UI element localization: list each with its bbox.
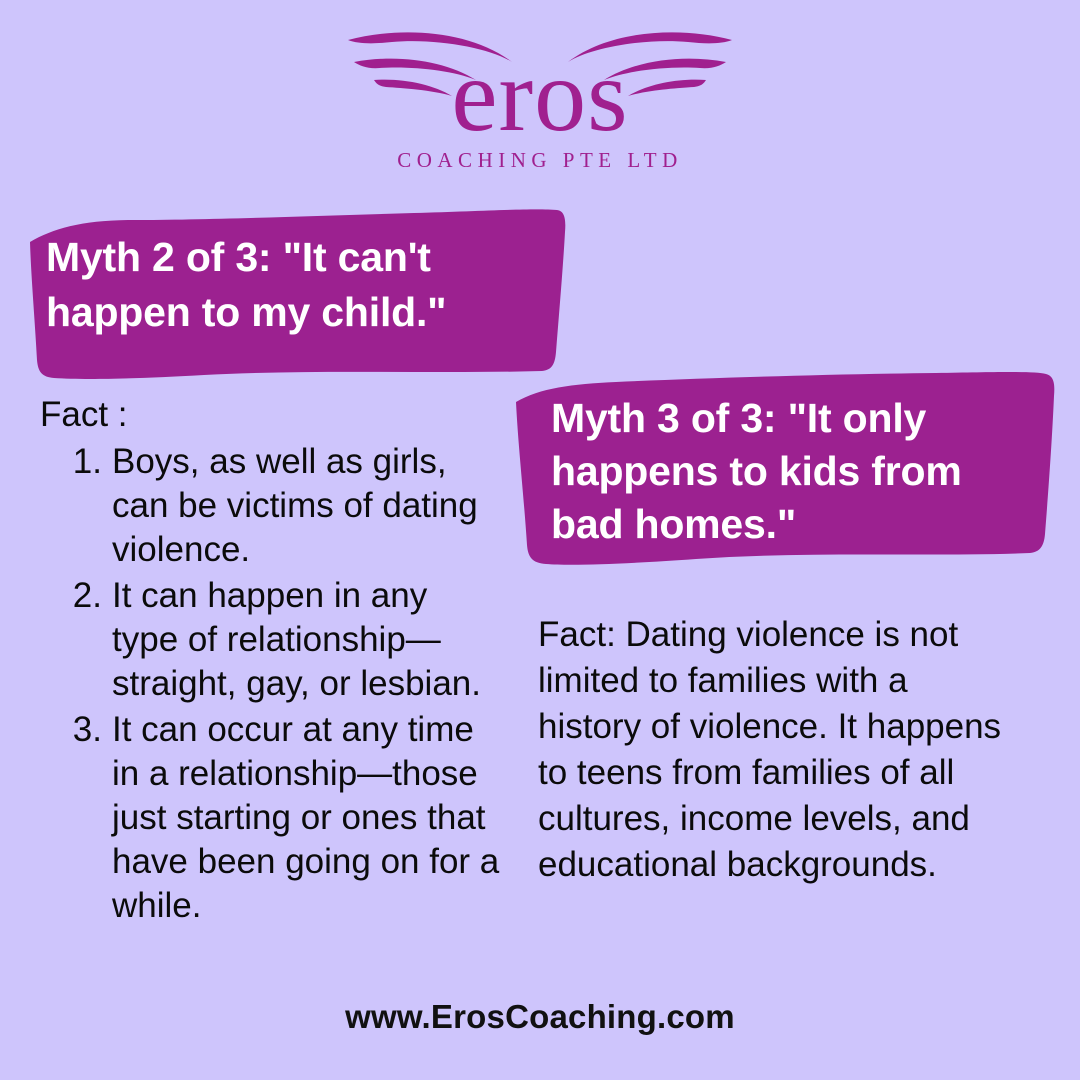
myth3-banner-text: Myth 3 of 3: "It only happens to kids fr… [551, 392, 1021, 551]
myth2-fact-list: Boys, as well as girls, can be victims o… [40, 440, 500, 928]
logo-tagline: COACHING PTE LTD [340, 148, 740, 173]
list-item: Boys, as well as girls, can be victims o… [104, 440, 500, 572]
poster-canvas: eros COACHING PTE LTD Myth 2 of 3: "It c… [0, 0, 1080, 1080]
myth3-fact-text: Fact: Dating violence is not limited to … [538, 612, 1016, 888]
footer-website-url[interactable]: www.ErosCoaching.com [0, 998, 1080, 1036]
brand-logo: eros COACHING PTE LTD [0, 18, 1080, 188]
myth2-banner-text: Myth 2 of 3: "It can't happen to my chil… [46, 230, 526, 340]
myth2-fact-label: Fact : [40, 392, 500, 438]
list-item: It can happen in any type of relationshi… [104, 574, 500, 706]
logo-wordmark: eros [340, 44, 740, 148]
list-item: It can occur at any time in a relationsh… [104, 708, 500, 928]
logo-graphic: eros COACHING PTE LTD [340, 18, 740, 183]
myth2-fact-column: Fact : Boys, as well as girls, can be vi… [40, 392, 500, 930]
myth3-banner: Myth 3 of 3: "It only happens to kids fr… [506, 368, 1062, 580]
myth2-banner: Myth 2 of 3: "It can't happen to my chil… [14, 206, 574, 382]
